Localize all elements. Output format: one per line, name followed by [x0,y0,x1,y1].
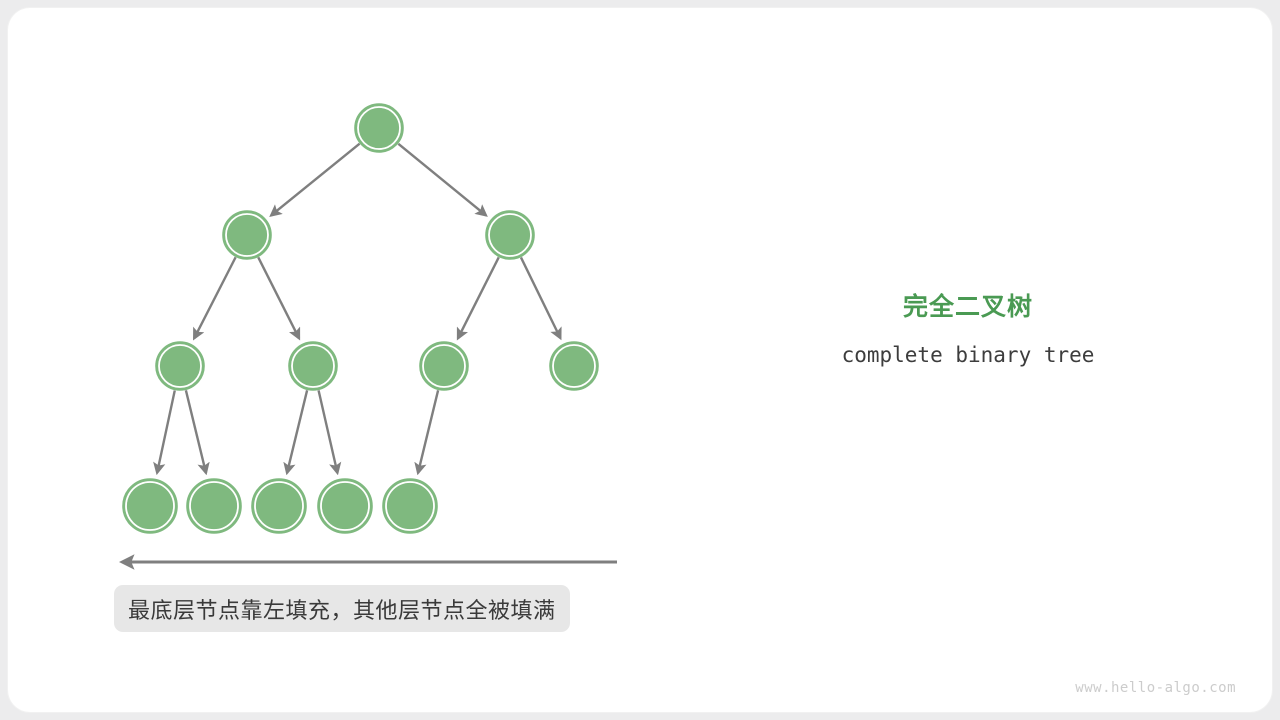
tree-node [123,479,177,533]
legend-title: 完全二叉树 [790,292,1146,322]
tree-node [156,342,204,390]
node-core [359,108,399,148]
node-core [554,346,594,386]
tree-edge [521,257,560,338]
node-core [424,346,464,386]
tree-edge [287,390,307,473]
node-core [160,346,200,386]
tree-node [383,479,437,533]
tree-edge [319,390,338,472]
tree-edge [194,257,236,338]
tree-edge [271,144,360,216]
tree-edge [418,390,438,473]
tree-edge [458,257,499,338]
tree-edges [157,144,560,473]
node-core [127,483,173,529]
tree-edge [398,144,486,216]
tree-node [355,104,403,152]
tree-nodes [123,104,598,533]
tree-node [318,479,372,533]
tree-edge [157,390,175,472]
tree-edge [258,257,299,338]
site-watermark: www.hello-algo.com [1075,680,1236,696]
node-core [387,483,433,529]
node-core [322,483,368,529]
node-core [227,215,267,255]
caption-pill: 最底层节点靠左填充，其他层节点全被填满 [114,585,570,632]
caption-text: 最底层节点靠左填充，其他层节点全被填满 [128,593,556,625]
node-core [490,215,530,255]
tree-node [550,342,598,390]
tree-node [223,211,271,259]
tree-edge [186,390,206,473]
tree-node [420,342,468,390]
node-core [293,346,333,386]
tree-node [486,211,534,259]
tree-node [187,479,241,533]
screenshot-canvas: 完全二叉树 complete binary tree 最底层节点靠左填充，其他层… [0,0,1280,720]
legend-subtitle: complete binary tree [790,343,1146,367]
tree-node [252,479,306,533]
legend-block: 完全二叉树 complete binary tree [790,292,1146,367]
node-core [191,483,237,529]
tree-node [289,342,337,390]
node-core [256,483,302,529]
